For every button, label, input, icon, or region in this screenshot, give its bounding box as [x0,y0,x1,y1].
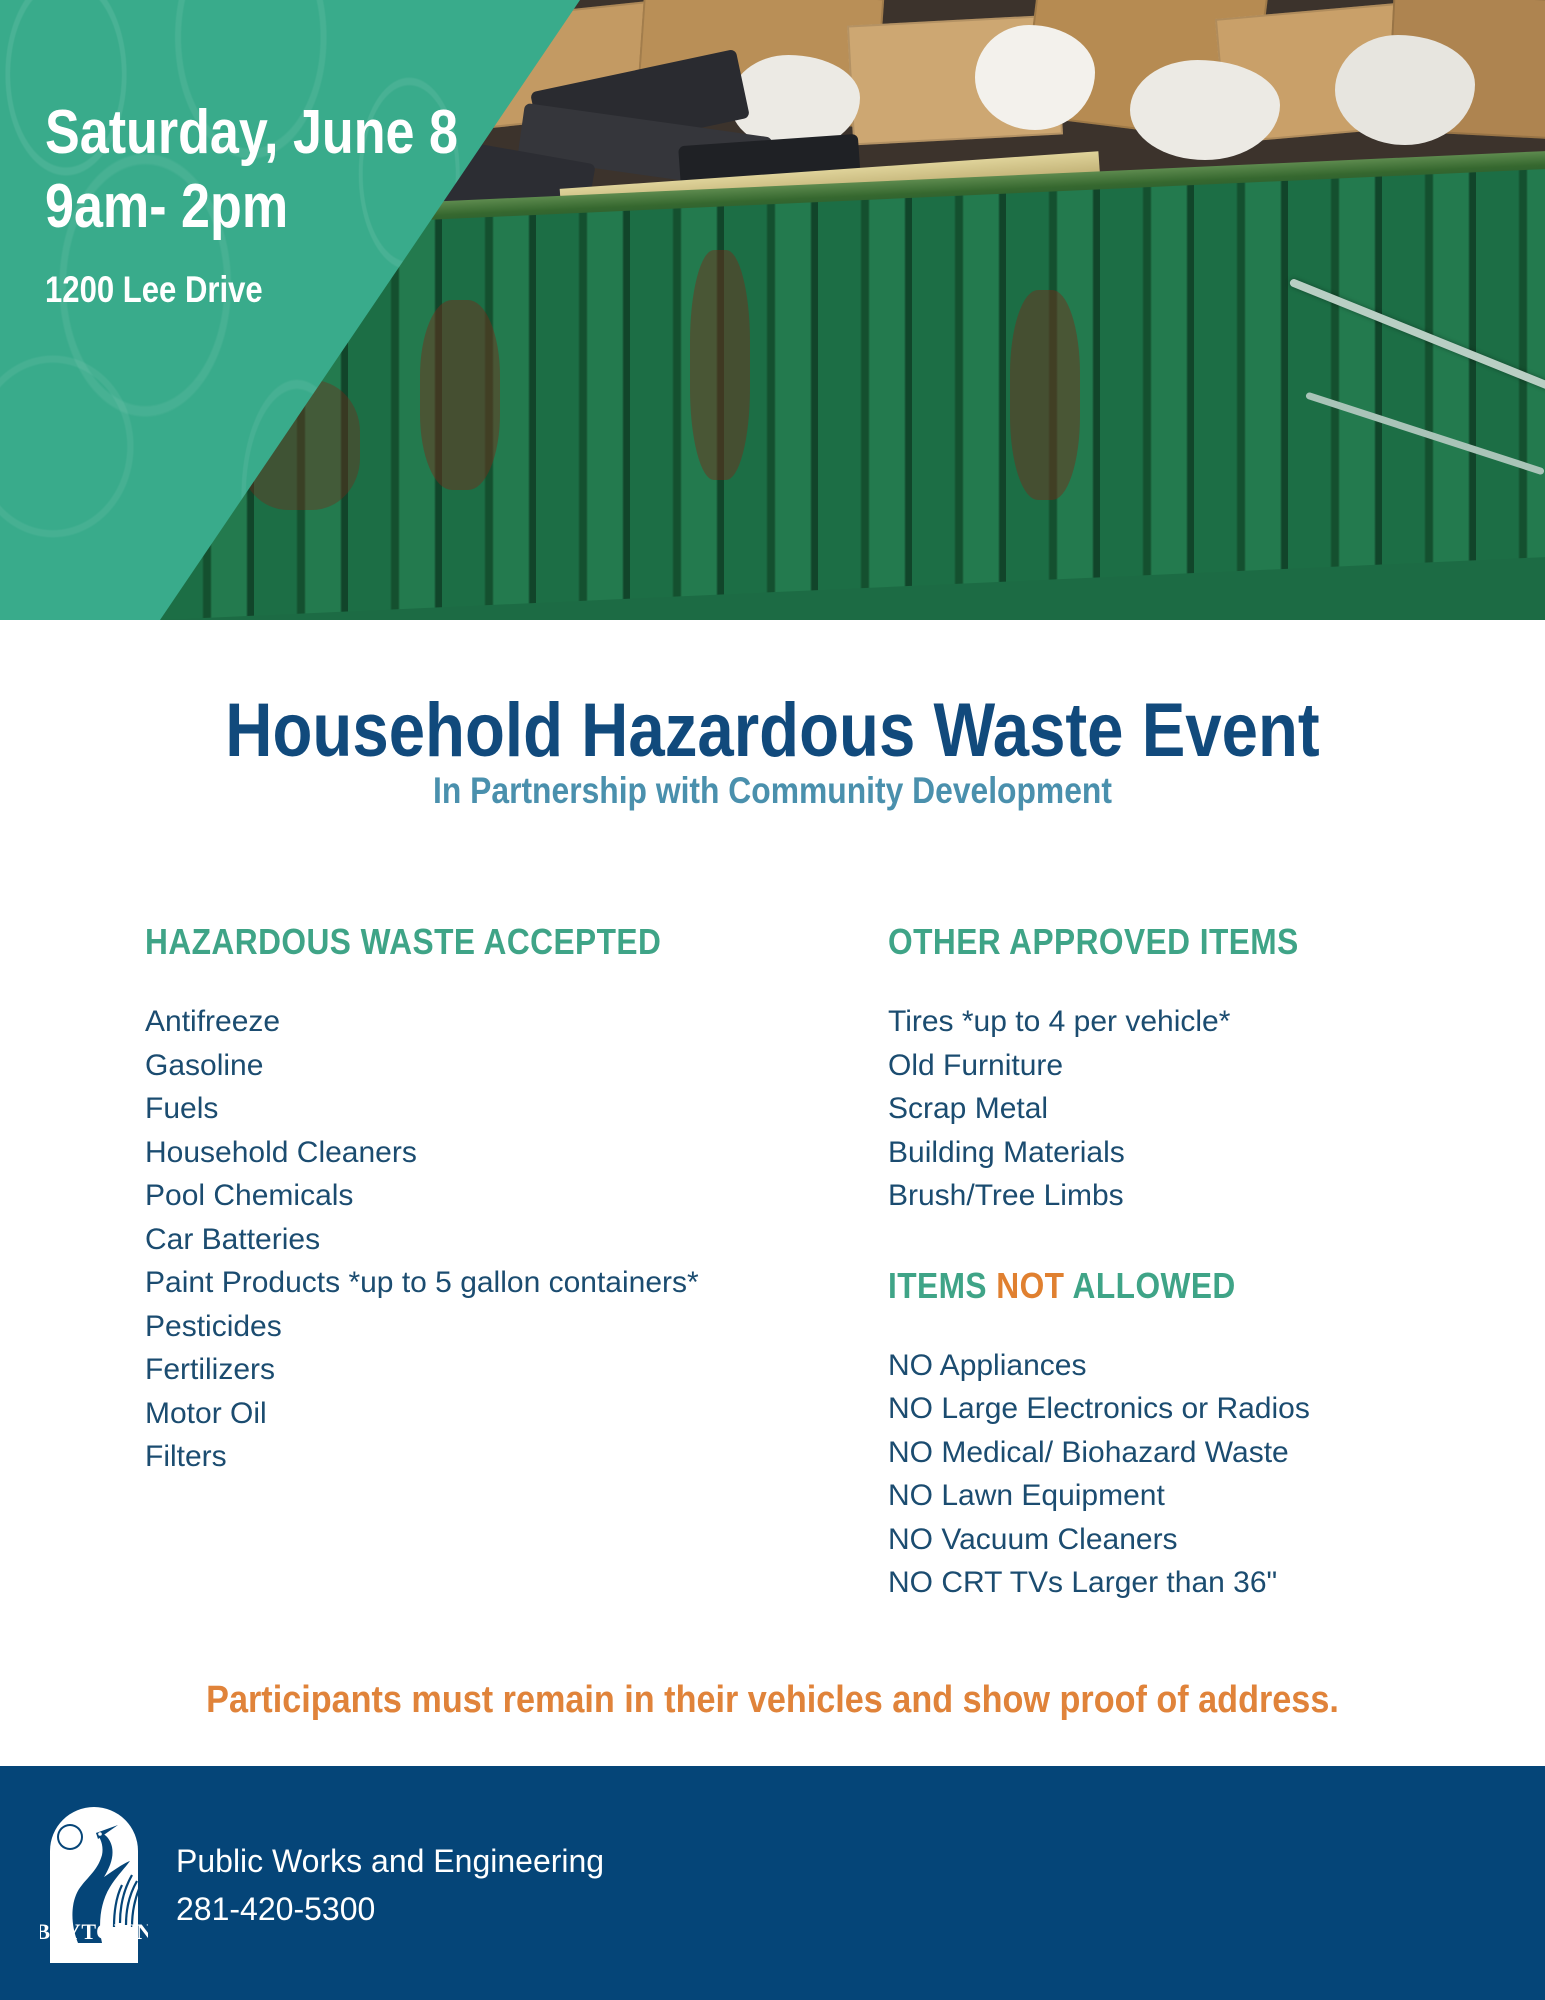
list-item: Pool Chemicals [145,1174,785,1218]
list-item: Old Furniture [888,1044,1508,1088]
list-item: Scrap Metal [888,1087,1508,1131]
other-items-column: OTHER APPROVED ITEMS Tires *up to 4 per … [888,920,1508,1605]
hazardous-waste-list: Antifreeze Gasoline Fuels Household Clea… [145,1000,785,1479]
list-item: NO Appliances [888,1344,1508,1388]
not-allowed-list: NO Appliances NO Large Electronics or Ra… [888,1344,1508,1605]
page-subtitle: In Partnership with Community Developmen… [108,768,1437,814]
list-item: NO CRT TVs Larger than 36" [888,1561,1508,1605]
approved-items-list: Tires *up to 4 per vehicle* Old Furnitur… [888,1000,1508,1218]
department-name: Public Works and Engineering [176,1841,604,1881]
list-item: Household Cleaners [145,1131,785,1175]
not-allowed-heading-emphasis: NOT [996,1265,1064,1306]
flyer-page: Saturday, June 8 9am- 2pm 1200 Lee Drive… [0,0,1545,2000]
event-date: Saturday, June 8 [45,96,458,170]
list-item: Car Batteries [145,1218,785,1262]
list-item: Paint Products *up to 5 gallon container… [145,1261,785,1305]
content-columns: HAZARDOUS WASTE ACCEPTED Antifreeze Gaso… [0,920,1545,1620]
baytown-logo: BAYTOWN [40,1803,148,1963]
approved-items-heading: OTHER APPROVED ITEMS [888,920,1434,964]
footer-bar: BAYTOWN Public Works and Engineering 281… [0,1766,1545,2000]
hazardous-waste-column: HAZARDOUS WASTE ACCEPTED Antifreeze Gaso… [145,920,785,1479]
list-item: NO Lawn Equipment [888,1474,1508,1518]
baytown-pelican-icon: BAYTOWN [40,1803,148,1963]
list-item: Gasoline [145,1044,785,1088]
event-address: 1200 Lee Drive [45,266,458,314]
not-allowed-heading: ITEMS NOT ALLOWED [888,1264,1434,1308]
list-item: NO Large Electronics or Radios [888,1387,1508,1431]
hazardous-waste-heading: HAZARDOUS WASTE ACCEPTED [145,920,708,964]
baytown-wordmark: BAYTOWN [40,1919,148,1944]
list-item: Pesticides [145,1305,785,1349]
participant-notice: Participants must remain in their vehicl… [77,1676,1468,1724]
event-details: Saturday, June 8 9am- 2pm 1200 Lee Drive [45,96,537,314]
list-item: Filters [145,1435,785,1479]
not-allowed-heading-part1: ITEMS [888,1265,987,1306]
page-title: Household Hazardous Waste Event [108,690,1437,772]
hero-section: Saturday, June 8 9am- 2pm 1200 Lee Drive [0,0,1545,620]
event-time: 9am- 2pm [45,170,458,244]
list-item: Brush/Tree Limbs [888,1174,1508,1218]
list-item: Fertilizers [145,1348,785,1392]
list-item: NO Vacuum Cleaners [888,1518,1508,1562]
list-item: Motor Oil [145,1392,785,1436]
list-item: Tires *up to 4 per vehicle* [888,1000,1508,1044]
phone-number: 281-420-5300 [176,1889,604,1929]
list-item: Antifreeze [145,1000,785,1044]
not-allowed-heading-part3: ALLOWED [1073,1265,1236,1306]
list-item: Building Materials [888,1131,1508,1175]
title-block: Household Hazardous Waste Event In Partn… [0,690,1545,814]
list-item: Fuels [145,1087,785,1131]
list-item: NO Medical/ Biohazard Waste [888,1431,1508,1475]
